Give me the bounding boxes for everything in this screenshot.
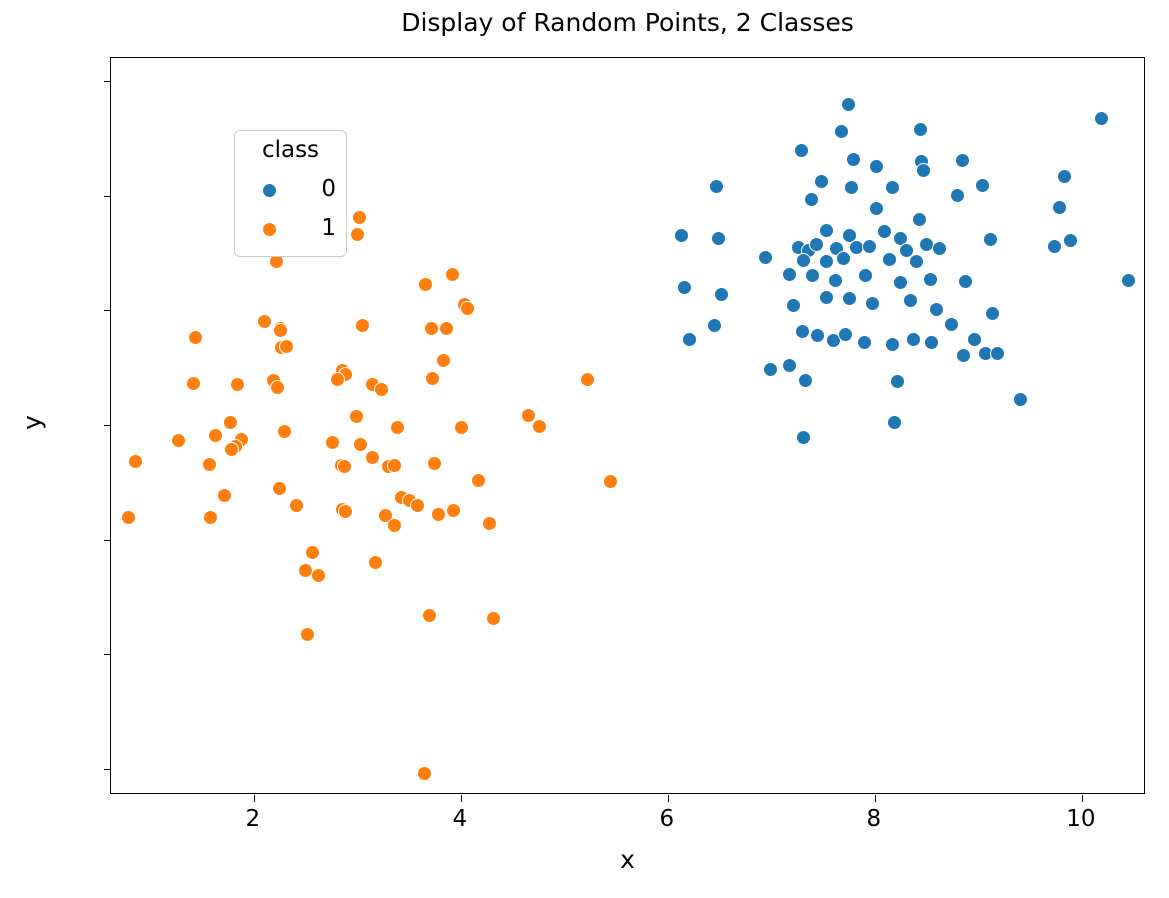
- scatter-point: [460, 301, 475, 316]
- scatter-point: [929, 302, 944, 317]
- legend-label-class-1: 1: [321, 211, 336, 245]
- scatter-point: [923, 272, 938, 287]
- x-tick-mark: [875, 795, 876, 802]
- scatter-point: [819, 254, 834, 269]
- scatter-point: [486, 611, 501, 626]
- scatter-point: [279, 339, 294, 354]
- scatter-point: [836, 251, 851, 266]
- legend: class 0 1: [234, 130, 347, 257]
- scatter-point: [202, 457, 217, 472]
- scatter-point: [1063, 233, 1078, 248]
- scatter-point: [885, 180, 900, 195]
- scatter-point: [1121, 273, 1136, 288]
- scatter-point: [924, 335, 939, 350]
- scatter-point: [798, 373, 813, 388]
- scatter-point: [208, 428, 223, 443]
- scatter-point: [885, 337, 900, 352]
- scatter-point: [532, 419, 547, 434]
- scatter-point: [270, 380, 285, 395]
- scatter-point: [482, 516, 497, 531]
- scatter-point: [289, 498, 304, 513]
- scatter-point: [171, 433, 186, 448]
- scatter-point: [912, 212, 927, 227]
- scatter-point: [677, 280, 692, 295]
- scatter-point: [786, 298, 801, 313]
- scatter-point: [794, 143, 809, 158]
- scatter-point: [763, 362, 778, 377]
- scatter-point: [828, 273, 843, 288]
- scatter-point: [890, 374, 905, 389]
- scatter-point: [869, 159, 884, 174]
- scatter-point: [338, 504, 353, 519]
- y-tick-mark: [104, 81, 111, 82]
- scatter-point: [810, 328, 825, 343]
- y-tick-mark: [104, 769, 111, 770]
- scatter-point: [796, 253, 811, 268]
- scatter-point: [325, 435, 340, 450]
- scatter-point: [1013, 392, 1028, 407]
- scatter-point: [439, 321, 454, 336]
- scatter-point: [471, 473, 486, 488]
- scatter-point: [674, 228, 689, 243]
- x-tick-mark: [254, 795, 255, 802]
- scatter-point: [887, 415, 902, 430]
- scatter-point: [955, 153, 970, 168]
- scatter-point: [869, 201, 884, 216]
- scatter-point: [819, 223, 834, 238]
- x-axis-label: x: [110, 845, 1145, 874]
- y-tick-mark: [104, 654, 111, 655]
- scatter-point: [916, 163, 931, 178]
- scatter-point: [387, 518, 402, 533]
- scatter-point: [865, 296, 880, 311]
- scatter-point: [846, 152, 861, 167]
- scatter-point: [967, 332, 982, 347]
- scatter-point: [834, 124, 849, 139]
- scatter-point: [804, 192, 819, 207]
- scatter-point: [1094, 111, 1109, 126]
- scatter-point: [906, 332, 921, 347]
- scatter-point: [913, 122, 928, 137]
- scatter-point: [1057, 169, 1072, 184]
- scatter-point: [844, 180, 859, 195]
- scatter-point: [958, 274, 973, 289]
- scatter-point: [230, 377, 245, 392]
- scatter-point: [985, 306, 1000, 321]
- scatter-point: [273, 323, 288, 338]
- scatter-point: [714, 287, 729, 302]
- legend-label-class-0: 0: [321, 172, 336, 206]
- scatter-point: [950, 188, 965, 203]
- scatter-point: [217, 488, 232, 503]
- y-tick-mark: [104, 540, 111, 541]
- scatter-point: [903, 293, 918, 308]
- scatter-point: [782, 267, 797, 282]
- scatter-point: [417, 766, 432, 781]
- x-tick-mark: [461, 795, 462, 802]
- scatter-point: [975, 178, 990, 193]
- x-tick-label: 8: [867, 806, 882, 832]
- scatter-point: [932, 241, 947, 256]
- scatter-point: [758, 250, 773, 265]
- scatter-point: [128, 454, 143, 469]
- scatter-point: [909, 254, 924, 269]
- scatter-point: [425, 371, 440, 386]
- scatter-point: [337, 459, 352, 474]
- scatter-point: [1052, 200, 1067, 215]
- scatter-point: [838, 327, 853, 342]
- y-axis-label: y: [18, 378, 47, 468]
- scatter-point: [431, 507, 446, 522]
- scatter-point: [427, 456, 442, 471]
- scatter-point: [782, 358, 797, 373]
- scatter-point: [862, 239, 877, 254]
- scatter-point: [709, 179, 724, 194]
- x-tick-label: 4: [453, 806, 468, 832]
- y-tick-mark: [104, 310, 111, 311]
- chart-page: Display of Random Points, 2 Classes 8101…: [0, 0, 1169, 898]
- scatter-point: [418, 277, 433, 292]
- scatter-point: [350, 227, 365, 242]
- scatter-point: [841, 97, 856, 112]
- scatter-point: [983, 232, 998, 247]
- legend-marker-class-0: [262, 183, 277, 198]
- scatter-point: [877, 224, 892, 239]
- scatter-point: [805, 268, 820, 283]
- scatter-point: [121, 510, 136, 525]
- scatter-point: [707, 318, 722, 333]
- scatter-point: [857, 335, 872, 350]
- y-tick-mark: [104, 196, 111, 197]
- x-tick-label: 6: [660, 806, 675, 832]
- scatter-point: [882, 252, 897, 267]
- scatter-point: [858, 268, 873, 283]
- scatter-point: [580, 372, 595, 387]
- x-tick-label: 2: [246, 806, 261, 832]
- scatter-point: [436, 353, 451, 368]
- scatter-point: [603, 474, 618, 489]
- scatter-point: [445, 267, 460, 282]
- scatter-point: [682, 332, 697, 347]
- scatter-point: [188, 330, 203, 345]
- y-tick-mark: [104, 425, 111, 426]
- scatter-point: [387, 458, 402, 473]
- scatter-point: [424, 321, 439, 336]
- scatter-point: [796, 430, 811, 445]
- scatter-point: [410, 498, 425, 513]
- scatter-point: [842, 291, 857, 306]
- x-tick-mark: [1082, 795, 1083, 802]
- scatter-point: [1047, 239, 1062, 254]
- scatter-point: [223, 415, 238, 430]
- scatter-point: [300, 627, 315, 642]
- scatter-point: [422, 608, 437, 623]
- scatter-point: [352, 210, 367, 225]
- scatter-point: [330, 372, 345, 387]
- scatter-point: [814, 174, 829, 189]
- scatter-point: [355, 318, 370, 333]
- legend-marker-class-1: [262, 222, 277, 237]
- scatter-point: [305, 545, 320, 560]
- legend-item-1[interactable]: 1: [235, 211, 348, 249]
- legend-item-0[interactable]: 0: [235, 172, 348, 210]
- scatter-point: [390, 420, 405, 435]
- scatter-point: [819, 290, 834, 305]
- scatter-point: [374, 382, 389, 397]
- scatter-point: [186, 376, 201, 391]
- legend-title: class: [235, 137, 346, 163]
- scatter-point: [272, 481, 287, 496]
- scatter-point: [224, 442, 239, 457]
- scatter-point: [956, 348, 971, 363]
- plot-frame: class 0 1: [110, 57, 1145, 794]
- scatter-point: [365, 450, 380, 465]
- scatter-point: [277, 424, 292, 439]
- scatter-point: [257, 314, 272, 329]
- scatter-point: [446, 503, 461, 518]
- scatter-point: [809, 237, 824, 252]
- scatter-point: [454, 420, 469, 435]
- scatter-point: [893, 275, 908, 290]
- scatter-point: [368, 555, 383, 570]
- scatter-point: [349, 409, 364, 424]
- scatter-point: [990, 346, 1005, 361]
- x-tick-mark: [668, 795, 669, 802]
- scatter-point: [353, 437, 368, 452]
- scatter-point: [203, 510, 218, 525]
- scatter-point: [711, 231, 726, 246]
- x-tick-label: 10: [1066, 806, 1095, 832]
- scatter-point: [311, 568, 326, 583]
- scatter-point: [944, 317, 959, 332]
- scatter-point: [795, 324, 810, 339]
